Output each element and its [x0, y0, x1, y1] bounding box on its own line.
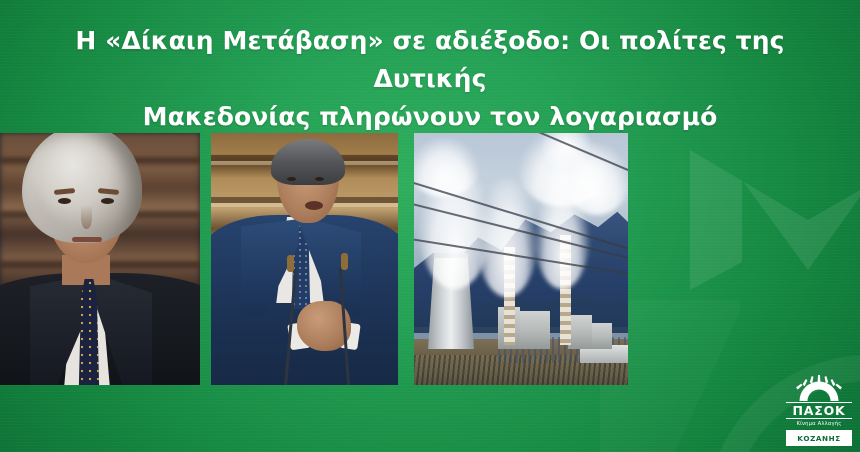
photo2-eye-left: [287, 177, 296, 181]
photo2-eye-right: [315, 177, 324, 181]
photo2-microphone-head-1: [287, 255, 294, 272]
photo-lignite-power-plant: [414, 133, 628, 385]
pasok-kozanis-logo: ΠΑΣΟΚ Κίνημα Αλλαγής ΚΟΖΑΝΗΣ: [786, 375, 852, 446]
title-line-2: Μακεδονίας πληρώνουν τον λογαριασμό: [26, 98, 834, 136]
social-media-banner: Η «Δίκαιη Μετάβαση» σε αδιέξοδο: Οι πολί…: [0, 0, 860, 452]
photo1-nose: [81, 205, 92, 229]
photo3-building-2: [520, 311, 550, 349]
logo-chapter-badge: ΚΟΖΑΝΗΣ: [786, 430, 852, 446]
photo3-steam-plume-6: [564, 143, 628, 215]
logo-party-name: ΠΑΣΟΚ: [786, 402, 852, 419]
photo2-microphone-head-2: [341, 253, 348, 270]
photo-man-speaking-at-podium: [211, 133, 398, 385]
logo-subtitle: Κίνημα Αλλαγής: [786, 421, 852, 428]
photo1-eye-right: [101, 198, 114, 204]
photo3-steam-plume-3: [476, 177, 538, 297]
photo-portrait-grey-haired-man: [0, 133, 200, 385]
banner-title: Η «Δίκαιη Μετάβαση» σε αδιέξοδο: Οι πολί…: [0, 22, 860, 136]
photo3-building-4: [592, 323, 612, 349]
photo2-mouth-speaking: [305, 201, 323, 210]
rising-sun-icon: [795, 375, 843, 401]
watermark-m-monogram: [690, 150, 860, 290]
title-line-1: Η «Δίκαιη Μετάβαση» σε αδιέξοδο: Οι πολί…: [75, 26, 784, 93]
photo3-building-3: [568, 315, 592, 349]
photo1-eye-left: [58, 198, 71, 204]
photo1-mouth: [72, 237, 102, 242]
